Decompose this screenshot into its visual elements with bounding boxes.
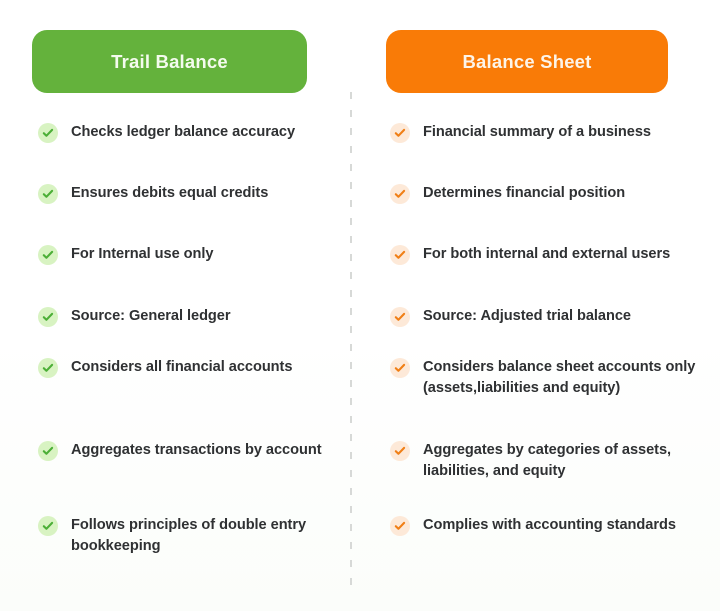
list-item: Considers balance sheet accounts only (a… [360, 357, 720, 398]
list-item: Determines financial position [360, 183, 720, 204]
check-circle-icon [38, 358, 58, 378]
check-circle-icon [38, 307, 58, 327]
check-circle-icon [38, 123, 58, 143]
list-item: Financial summary of a business [360, 122, 720, 143]
list-item-label: Aggregates transactions by account [71, 440, 322, 461]
list-item-label: Ensures debits equal credits [71, 183, 268, 204]
check-circle-icon [38, 184, 58, 204]
list-item: For Internal use only [0, 244, 360, 265]
check-circle-icon [390, 123, 410, 143]
list-item-label: Considers all financial accounts [71, 357, 292, 378]
list-item: Follows principles of double entry bookk… [0, 515, 360, 556]
list-item-label: Follows principles of double entry bookk… [71, 515, 338, 556]
comparison-infographic: Trail Balance Checks ledger balance accu… [0, 0, 720, 611]
list-item-label: Determines financial position [423, 183, 625, 204]
list-item: Checks ledger balance accuracy [0, 122, 360, 143]
list-item-label: Complies with accounting standards [423, 515, 676, 536]
list-item: Ensures debits equal credits [0, 183, 360, 204]
list-item-label: Considers balance sheet accounts only (a… [423, 357, 706, 398]
check-circle-icon [390, 184, 410, 204]
list-item-label: Source: General ledger [71, 306, 231, 327]
columns-container: Trail Balance Checks ledger balance accu… [0, 0, 720, 611]
check-circle-icon [390, 307, 410, 327]
list-item-label: For Internal use only [71, 244, 213, 265]
column-balance-sheet: Balance Sheet Financial summary of a bus… [360, 0, 720, 611]
list-item: Aggregates by categories of assets, liab… [360, 440, 720, 481]
list-item-label: Source: Adjusted trial balance [423, 306, 631, 327]
list-item: Complies with accounting standards [360, 515, 720, 536]
check-circle-icon [390, 358, 410, 378]
check-circle-icon [390, 441, 410, 461]
column-trial-balance: Trail Balance Checks ledger balance accu… [0, 0, 360, 611]
check-circle-icon [390, 516, 410, 536]
check-circle-icon [38, 441, 58, 461]
check-circle-icon [38, 245, 58, 265]
list-item: Source: General ledger [0, 306, 360, 327]
list-item: Aggregates transactions by account [0, 440, 360, 461]
check-circle-icon [38, 516, 58, 536]
list-item-label: For both internal and external users [423, 244, 670, 265]
check-circle-icon [390, 245, 410, 265]
list-item-label: Aggregates by categories of assets, liab… [423, 440, 706, 481]
column-header-balance-sheet: Balance Sheet [386, 30, 668, 93]
column-header-trial-balance: Trail Balance [32, 30, 307, 93]
list-item: Considers all financial accounts [0, 357, 360, 378]
list-item: For both internal and external users [360, 244, 720, 265]
list-item-label: Financial summary of a business [423, 122, 651, 143]
list-item-label: Checks ledger balance accuracy [71, 122, 295, 143]
list-item: Source: Adjusted trial balance [360, 306, 720, 327]
